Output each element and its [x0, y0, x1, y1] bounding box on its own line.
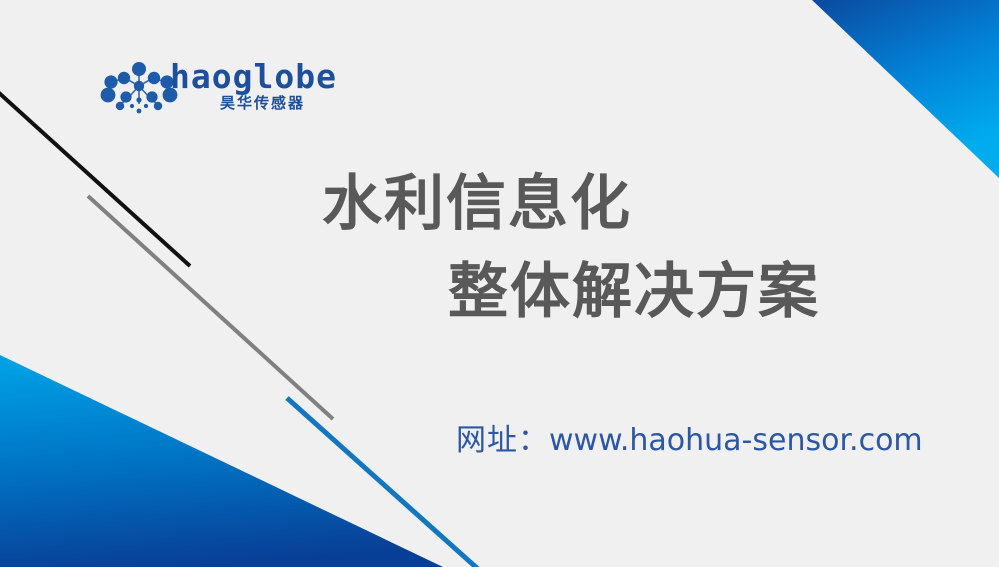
website-url[interactable]: www.haohua-sensor.com — [549, 423, 923, 458]
page-title-line-1: 水利信息化 — [322, 160, 999, 248]
website-line: 网址：www.haohua-sensor.com — [456, 420, 923, 462]
logo-wordmark: haoglobe — [170, 58, 337, 96]
logo-subtitle: 昊华传感器 — [220, 94, 305, 114]
website-label: 网址： — [456, 424, 549, 457]
page-title: 水利信息化 整体解决方案 — [0, 160, 999, 336]
blue-diagonal-accent-line — [287, 398, 478, 567]
brand-logo: haoglobe 昊华传感器 — [98, 58, 328, 120]
top-right-blue-triangle — [812, 0, 999, 178]
slide-canvas: haoglobe 昊华传感器 水利信息化 整体解决方案 网址：www.haohu… — [0, 0, 999, 567]
bottom-left-blue-triangle — [0, 355, 443, 567]
page-title-line-2: 整体解决方案 — [448, 248, 999, 336]
haoglobe-network-dots-logo — [98, 60, 180, 116]
